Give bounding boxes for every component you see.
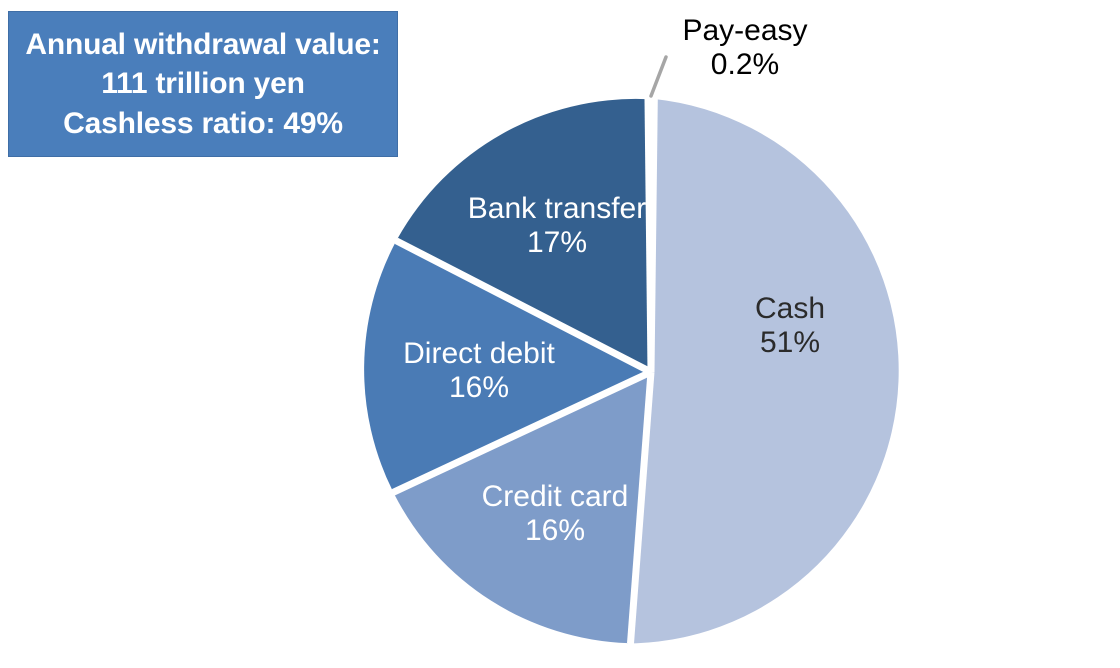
separator-bank-payeasy [648,99,651,372]
callout-line-3: Cashless ratio: 49% [63,104,343,144]
pie-slice-cash[interactable] [633,99,899,643]
callout-line-2: 111 trillion yen [101,64,305,104]
annual-withdrawal-callout: Annual withdrawal value: 111 trillion ye… [8,11,398,157]
pay-easy-leader-line [651,57,666,96]
callout-line-1: Annual withdrawal value: [25,25,380,65]
